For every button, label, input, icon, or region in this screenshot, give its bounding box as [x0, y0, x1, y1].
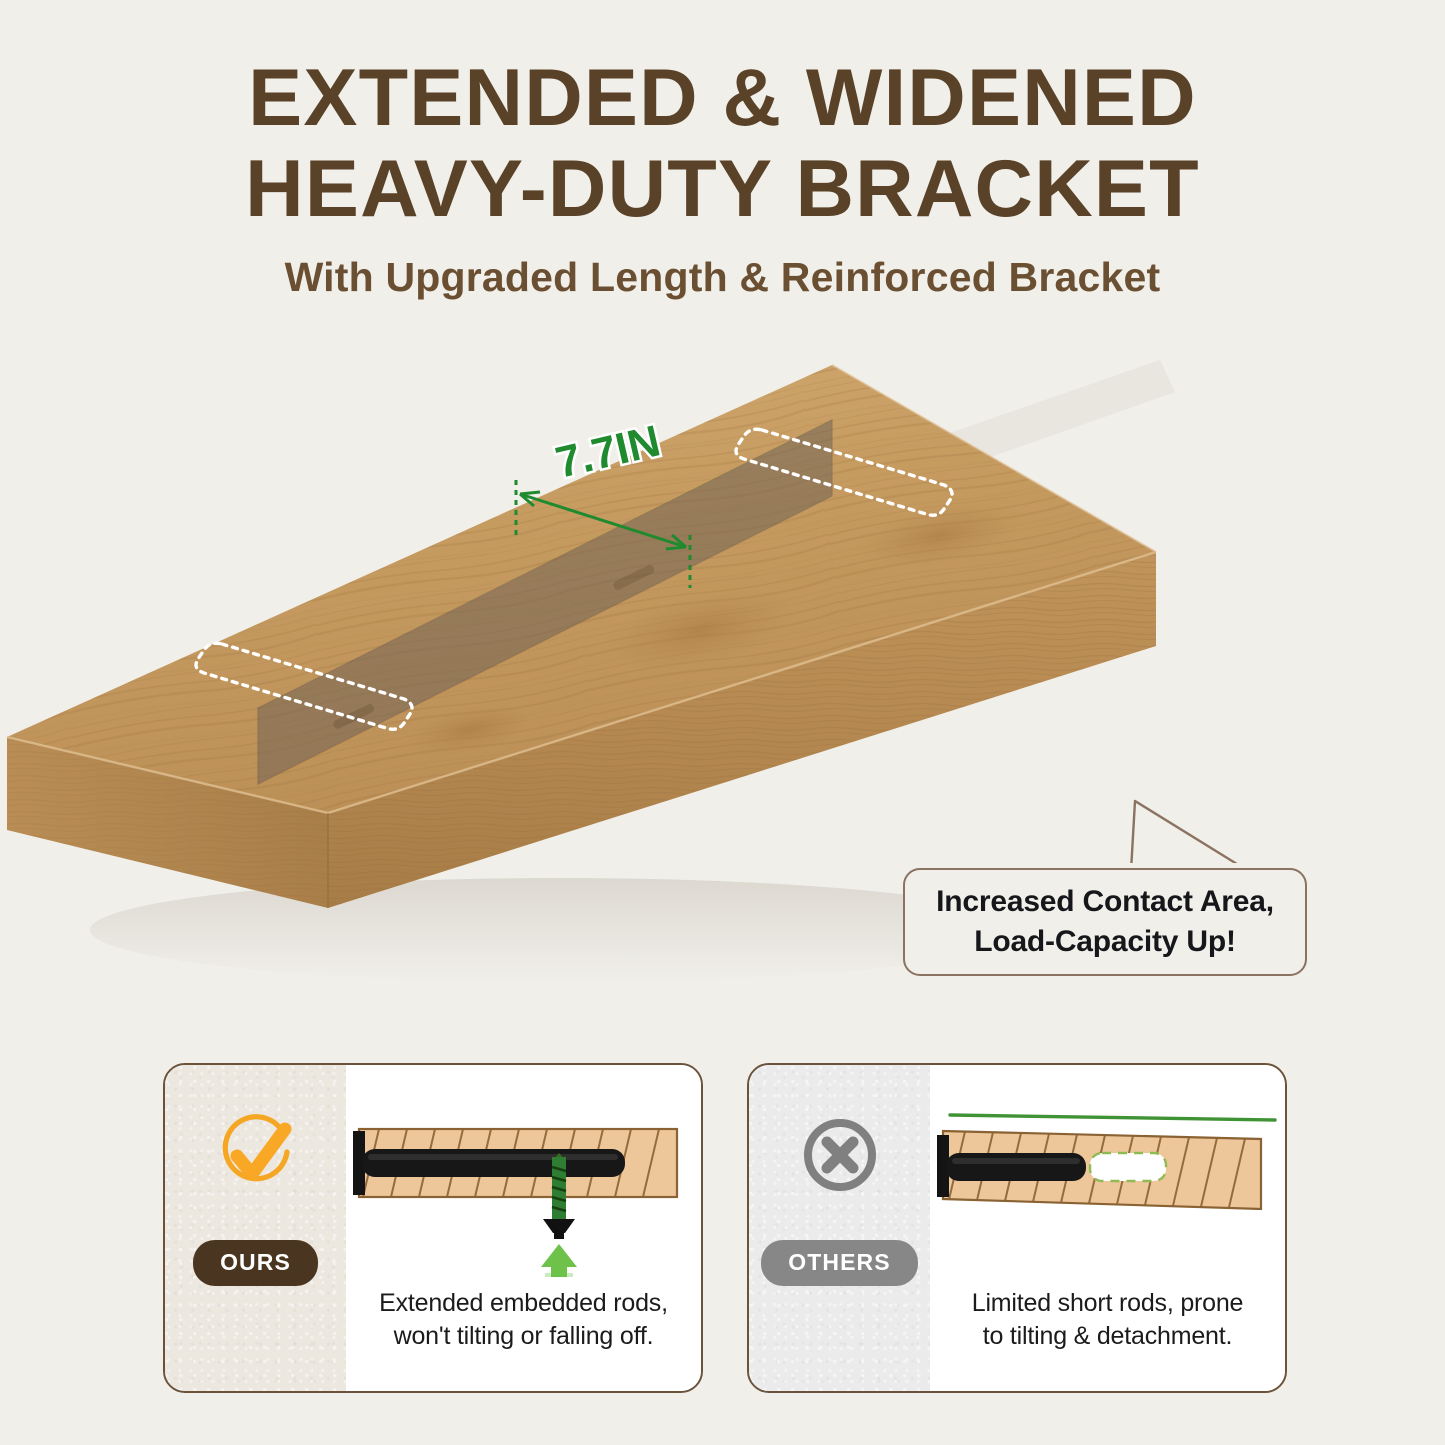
diagram-short-rod [930, 1087, 1287, 1277]
callout-tail [1113, 797, 1253, 871]
page-subtitle: With Upgraded Length & Reinforced Bracke… [0, 254, 1445, 301]
badge-ours: OURS [193, 1240, 318, 1286]
diagram-extended-rod [346, 1087, 703, 1277]
card-left-panel-ours: OURS [165, 1065, 346, 1391]
card-right-panel-others: Limited short rods, prone to tilting & d… [930, 1065, 1285, 1391]
callout-line-1: Increased Contact Area, [936, 885, 1274, 919]
badge-others: OTHERS [761, 1240, 917, 1286]
comparison-card-others: OTHERS [747, 1063, 1287, 1393]
card-right-panel-ours: Extended embedded rods, won't tilting or… [346, 1065, 701, 1391]
page-title-line2: HEAVY-DUTY BRACKET [0, 149, 1445, 229]
up-arrow-icon [541, 1244, 577, 1277]
comparison-card-ours: OURS [163, 1063, 703, 1393]
comparison-section: OURS [163, 1063, 1287, 1393]
callout-line-2: Load-Capacity Up! [974, 925, 1236, 959]
caption-ours-line1: Extended embedded rods, [346, 1287, 701, 1320]
x-circle-icon [797, 1112, 883, 1198]
page-title-line1: EXTENDED & WIDENED [0, 58, 1445, 138]
caption-ours: Extended embedded rods, won't tilting or… [346, 1287, 701, 1353]
check-circle-icon [213, 1112, 299, 1198]
callout-bubble: Increased Contact Area, Load-Capacity Up… [903, 868, 1307, 976]
caption-others: Limited short rods, prone to tilting & d… [930, 1287, 1285, 1353]
caption-others-line1: Limited short rods, prone [930, 1287, 1285, 1320]
caption-ours-line2: won't tilting or falling off. [346, 1320, 701, 1353]
headline-block: EXTENDED & WIDENED HEAVY-DUTY BRACKET Wi… [0, 58, 1445, 301]
card-left-panel-others: OTHERS [749, 1065, 930, 1391]
caption-others-line2: to tilting & detachment. [930, 1320, 1285, 1353]
